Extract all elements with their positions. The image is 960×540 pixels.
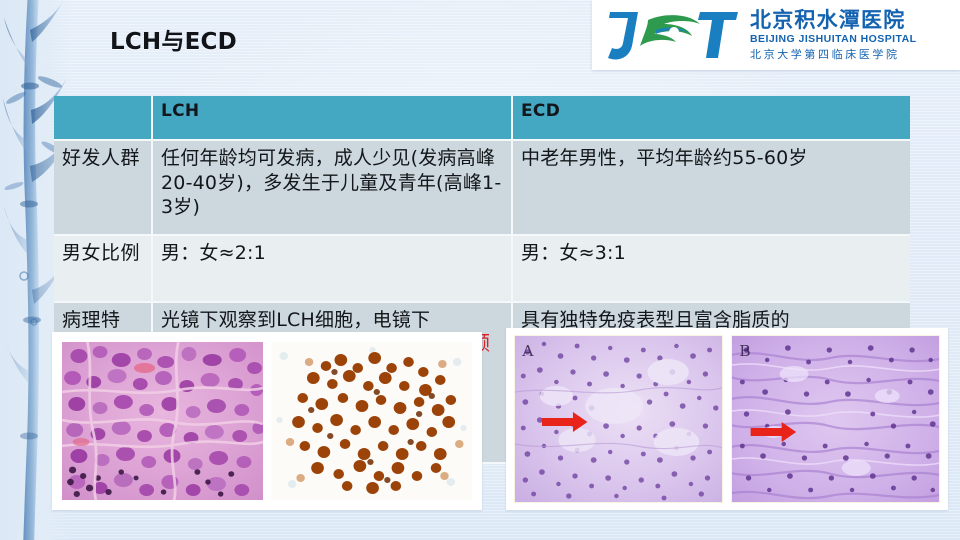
row-label-age-group: 好发人群 <box>54 140 152 235</box>
table-header-blank <box>54 96 152 140</box>
svg-text:B: B <box>739 342 750 360</box>
svg-text:A: A <box>521 342 534 360</box>
hospital-affiliation-cn: 北京大学第四临床医学院 <box>750 48 917 61</box>
cell-lch-sex-ratio: 男：女≈2:1 <box>152 235 512 302</box>
he-stain-histology-image <box>62 342 263 500</box>
ecd-histology-figure: A <box>506 328 948 510</box>
cell-ecd-age-group: 中老年男性，平均年龄约55-60岁 <box>512 140 910 235</box>
hospital-name-en: BEIJING JISHUITAN HOSPITAL <box>750 33 917 46</box>
jst-logo-mark <box>604 6 744 64</box>
hospital-logo: 北京积水潭医院 BEIJING JISHUITAN HOSPITAL 北京大学第… <box>592 0 960 70</box>
slide-canvas: 北京积水潭医院 BEIJING JISHUITAN HOSPITAL 北京大学第… <box>0 0 960 540</box>
ecd-histology-panel-b-image: B <box>731 335 940 503</box>
immunohistochemistry-stain-image <box>271 342 472 500</box>
table-header-ecd: ECD <box>512 96 910 140</box>
table-row: 男女比例 男：女≈2:1 男：女≈3:1 <box>54 235 910 302</box>
ecd-histology-panel-a-image: A <box>514 335 723 503</box>
table-row: 好发人群 任何年龄均可发病，成人少见(发病高峰20-40岁)，多发生于儿童及青年… <box>54 140 910 235</box>
table-header-row: LCH ECD <box>54 96 910 140</box>
page-title: LCH与ECD <box>110 22 237 56</box>
hospital-logo-text: 北京积水潭医院 BEIJING JISHUITAN HOSPITAL 北京大学第… <box>750 9 917 61</box>
lch-histology-figure <box>52 332 482 510</box>
cell-lch-age-group: 任何年龄均可发病，成人少见(发病高峰20-40岁)，多发生于儿童及青年(高峰1-… <box>152 140 512 235</box>
hospital-name-cn: 北京积水潭医院 <box>750 9 917 31</box>
row-label-sex-ratio: 男女比例 <box>54 235 152 302</box>
table-header-lch: LCH <box>152 96 512 140</box>
cell-ecd-sex-ratio: 男：女≈3:1 <box>512 235 910 302</box>
